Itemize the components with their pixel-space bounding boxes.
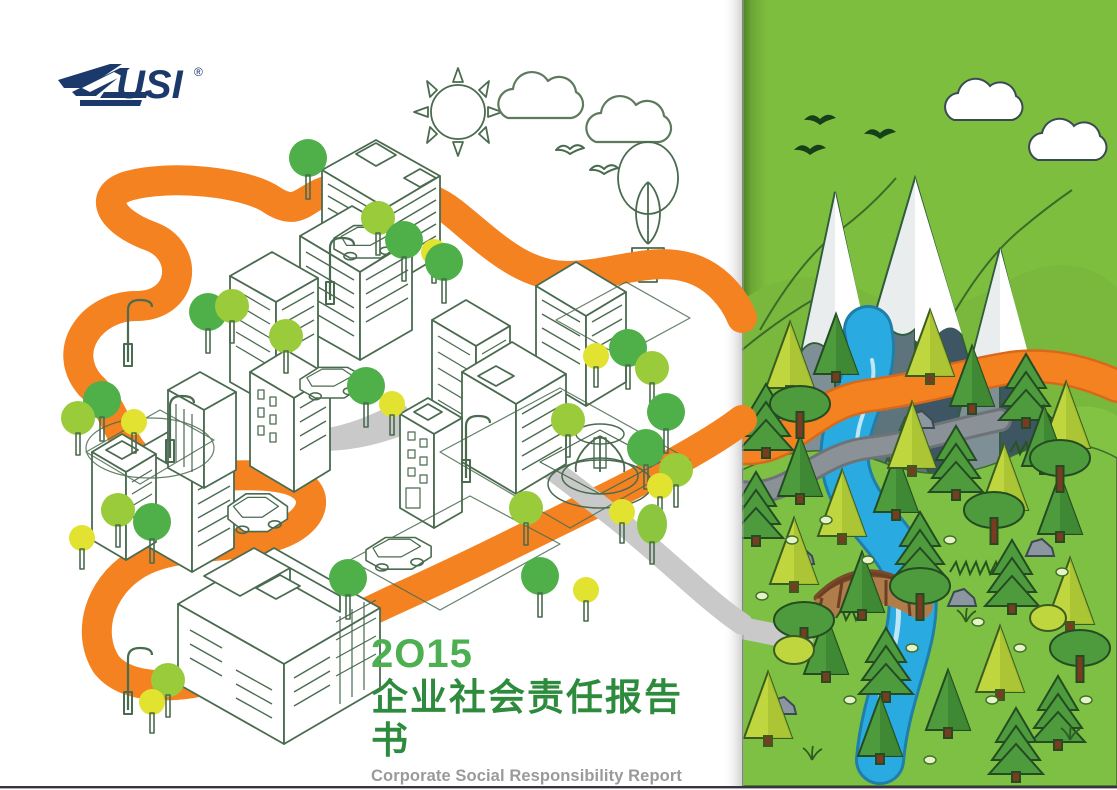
usi-logo: USI ® [56,58,211,116]
report-title-en: Corporate Social Responsibility Report [371,765,701,787]
report-year: 2O15 [371,632,701,676]
van-1 [228,494,287,534]
logo-wordmark: USI [116,63,184,107]
registered-trademark-icon: ® [194,65,203,79]
green-nature-panel [722,0,1117,786]
report-cover: USI ® 2O15 企业社会责任报告书 Corporate Social Re… [0,0,1117,790]
report-title-cn: 企业社会责任报告书 [371,676,701,762]
title-block: 2O15 企业社会责任报告书 Corporate Social Responsi… [371,632,701,787]
low-rise-2 [400,398,462,528]
low-rise-1 [462,342,566,494]
